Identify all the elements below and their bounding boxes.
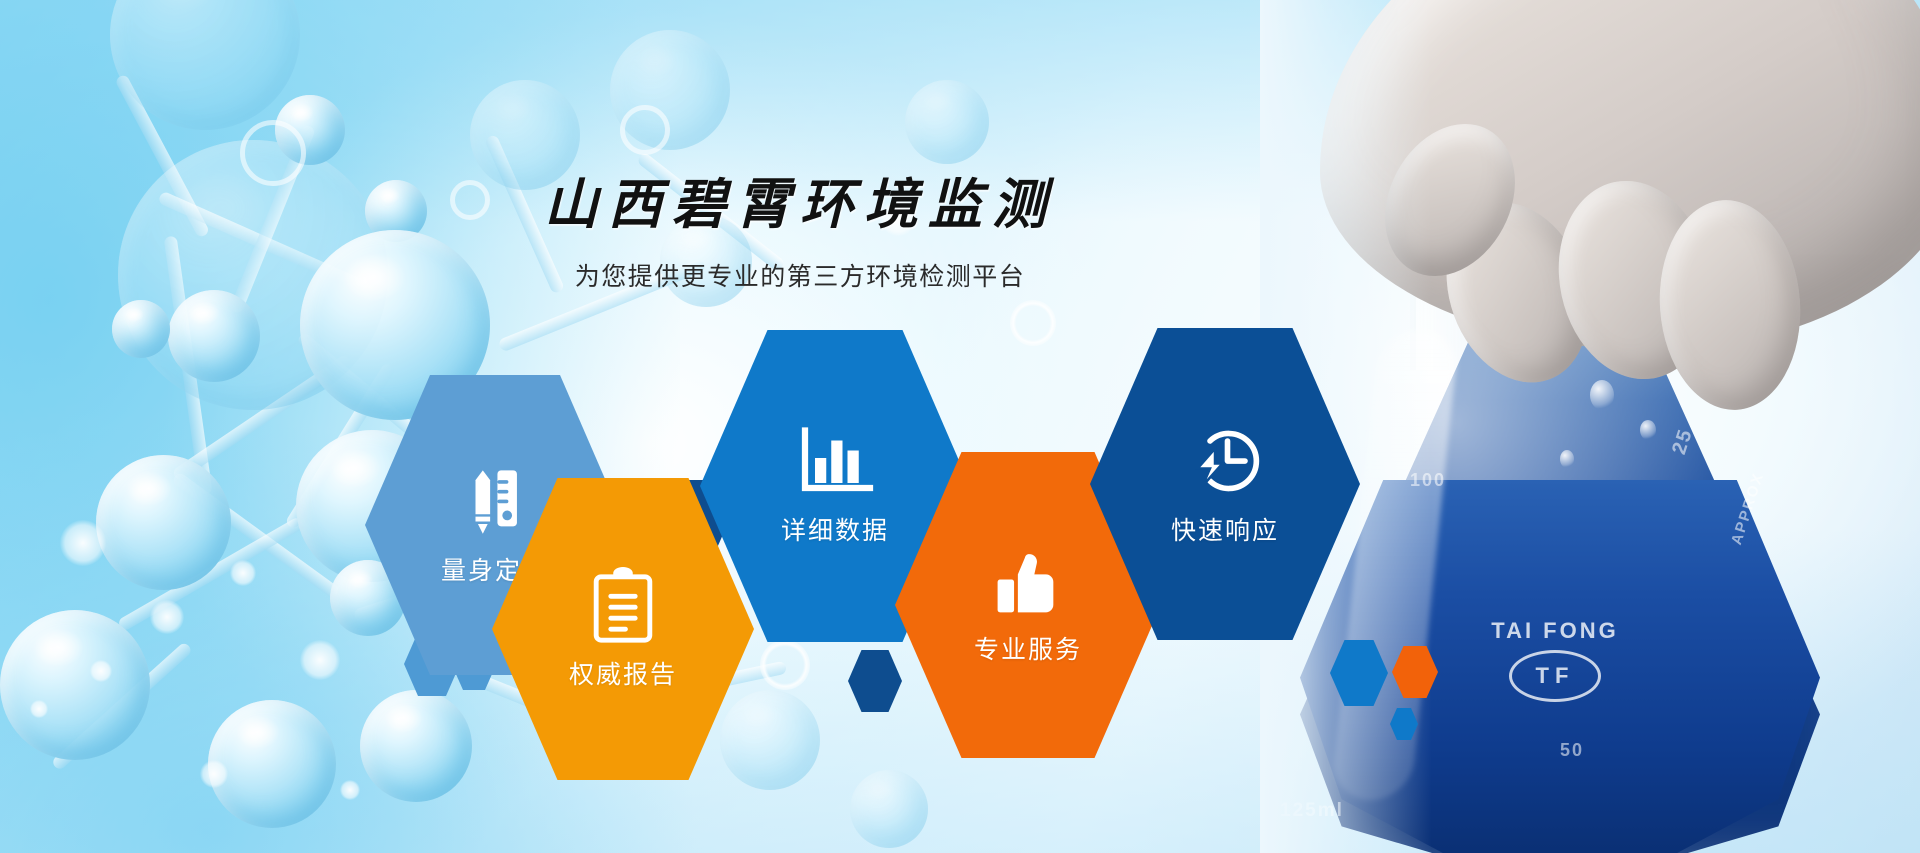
clock-bolt-icon [1185,421,1265,501]
feature-hexagon-group: 量身定制 权威报告 [0,0,1920,853]
decorative-hexagon [1390,708,1418,740]
page-title: 山西碧霄环境监测 [540,160,1060,239]
pencil-ruler-icon [456,463,534,541]
decorative-hexagon [848,650,902,712]
banner-headline: 山西碧霄环境监测 为您提供更专业的第三方环境检测平台 [540,160,1060,293]
clipboard-report-icon [587,567,659,645]
thumbs-up-icon [990,544,1066,620]
decorative-hexagon [1392,646,1438,698]
bar-chart-icon [795,425,875,501]
feature-label-data: 详细数据 [781,511,889,547]
banner-stage: 25 APPROX 100 50 125ml TAI FONG TF 山西碧霄环… [0,0,1920,853]
feature-label-service: 专业服务 [974,630,1082,666]
feature-label-report: 权威报告 [569,655,677,691]
feature-label-response: 快速响应 [1171,511,1279,547]
decorative-hexagon [1330,640,1388,706]
page-subtitle: 为您提供更专业的第三方环境检测平台 [540,257,1060,293]
